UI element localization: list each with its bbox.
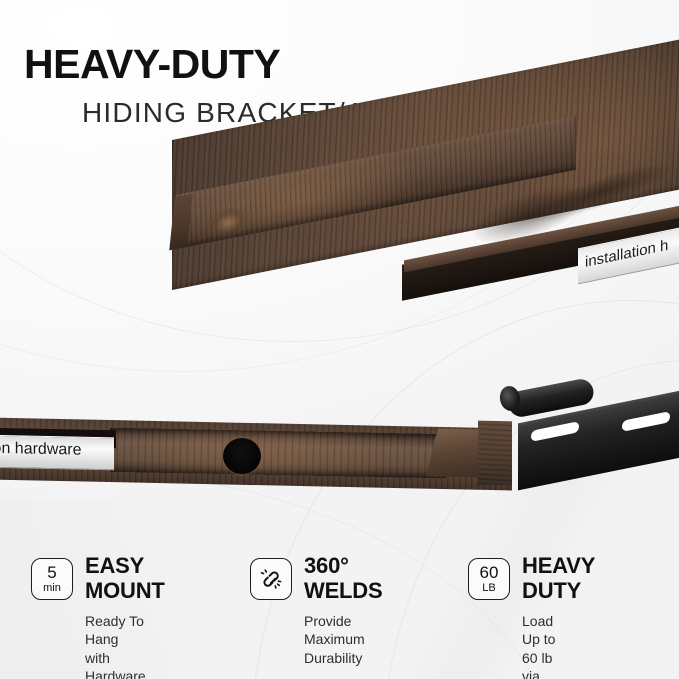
shelf-routed-channel	[110, 428, 446, 478]
feature-heading: 360° WELDS	[304, 554, 382, 604]
badge-value: 60	[469, 564, 509, 581]
feature-heading: HEAVY DUTY	[522, 554, 595, 604]
badge-welds	[250, 558, 292, 600]
product-photo-bottom: ion hardware	[0, 405, 679, 525]
badge-5-min: 5 min	[31, 558, 73, 600]
product-photo-top: installation h	[0, 130, 679, 380]
product-infographic: HEAVY-DUTY HIDING BRACKET/ACCESSORY inst…	[0, 0, 679, 679]
badge-value: 5	[32, 564, 72, 581]
shelf-mounting-hole	[223, 438, 261, 474]
feature-heading: EASY MOUNT	[85, 554, 165, 604]
badge-60-lb: 60 LB	[468, 558, 510, 600]
installation-hardware-label-bottom: ion hardware	[0, 435, 114, 471]
feature-description: Provide Maximum Durability	[304, 612, 365, 667]
label-bottom-text: ion hardware	[0, 440, 82, 460]
page-title: HEAVY-DUTY	[24, 44, 280, 85]
feature-list: 5 min EASY MOUNT Ready To Hang with Hard…	[0, 548, 679, 668]
shelf-end-grain	[478, 421, 512, 486]
floating-shelf-bottom: ion hardware	[0, 405, 522, 515]
feature-description: Load Up to 60 lb via Drywall	[522, 612, 568, 679]
badge-unit: LB	[469, 583, 509, 594]
badge-unit: min	[32, 583, 72, 594]
feature-description: Ready To Hang with Hardware Included	[85, 612, 146, 679]
